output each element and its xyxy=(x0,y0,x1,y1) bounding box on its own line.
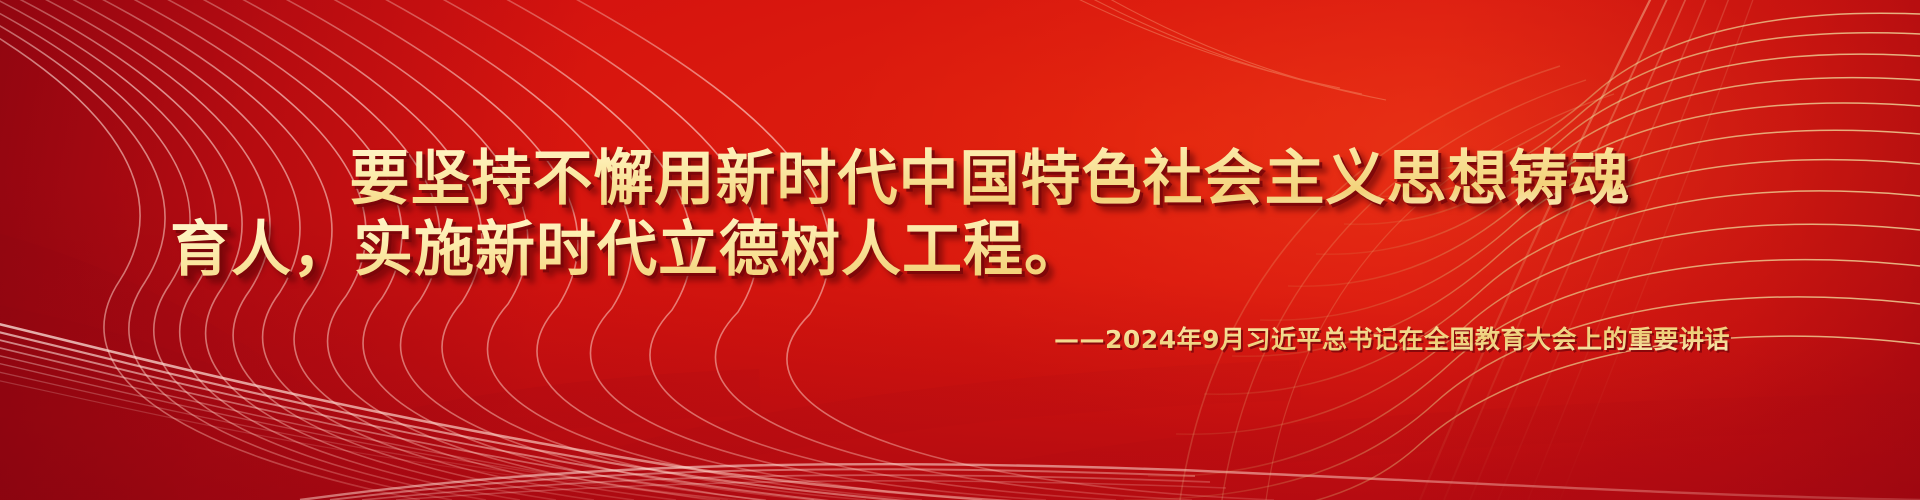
source-attribution: ——2024年9月习近平总书记在全国教育大会上的重要讲话 xyxy=(150,320,1770,356)
headline-line-1: 要坚持不懈用新时代中国特色社会主义思想铸魂 xyxy=(150,144,1770,215)
headline-line-2: 育人，实施新时代立德树人工程。 xyxy=(150,215,1770,286)
banner-content: 要坚持不懈用新时代中国特色社会主义思想铸魂 育人，实施新时代立德树人工程。 ——… xyxy=(0,0,1920,500)
propaganda-banner: 要坚持不懈用新时代中国特色社会主义思想铸魂 育人，实施新时代立德树人工程。 ——… xyxy=(0,0,1920,500)
